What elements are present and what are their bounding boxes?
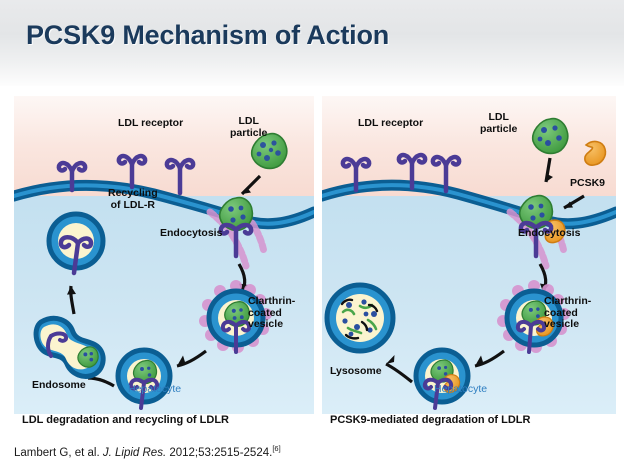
label-ldl-particle-right: LDL particle — [480, 112, 517, 135]
label-endocytosis-left: Endocytosis — [160, 228, 222, 240]
caption-right: PCSK9-mediated degradation of LDLR — [330, 414, 530, 426]
arrow-ldl-to-receptor — [242, 176, 260, 194]
citation: Lambert G, et al. J. Lipid Res. 2012;53:… — [14, 444, 281, 459]
label-clathrin-vesicle-left: Clarthrin- coated vesicle — [248, 296, 295, 331]
diagram-left — [14, 96, 314, 414]
ldl-particle-icon — [533, 119, 568, 154]
label-clathrin-vesicle-right: Clarthrin- coated vesicle — [544, 296, 591, 331]
label-lysosome: Lysosome — [330, 366, 382, 378]
lysosome-icon — [327, 285, 393, 351]
bound-ldl-receptor-complex — [220, 198, 253, 256]
label-ldl-receptor-left: LDL receptor — [118, 118, 183, 130]
arrow-to-lysosome — [386, 355, 412, 382]
pcsk9-icon — [585, 142, 606, 166]
label-endocytosis-right: Endocytosis — [518, 228, 580, 240]
arrow-pcsk9 — [564, 196, 584, 208]
arrow-ldl-to-receptor-right — [546, 158, 553, 182]
page-title: PCSK9 Mechanism of Action — [26, 20, 389, 51]
panel-ldl-recycling: LDL receptor LDL particle Recycling of L… — [14, 96, 314, 414]
citation-ref: [6] — [272, 444, 280, 453]
label-pcsk9: PCSK9 — [570, 178, 605, 190]
citation-authors: Lambert G, et al. — [14, 447, 100, 459]
slide-header: PCSK9 Mechanism of Action — [0, 0, 624, 87]
caption-left: LDL degradation and recycling of LDLR — [22, 414, 229, 426]
label-ldl-particle-left: LDL particle — [230, 116, 267, 139]
label-ldl-receptor-right: LDL receptor — [358, 118, 423, 130]
label-hepatocyte-left: Hepatocyte — [128, 384, 181, 396]
arrow-vesicle-to-lysosome-path — [475, 351, 504, 366]
arrow-vesicle-to-sorting-left — [177, 351, 206, 366]
label-endosome: Endosome — [32, 380, 86, 392]
figure-area: LDL receptor LDL particle Recycling of L… — [0, 86, 624, 408]
endosome-vesicle-right — [416, 350, 468, 408]
label-recycling: Recycling of LDL-R — [108, 188, 158, 211]
sorting-vesicle-left — [118, 350, 170, 408]
endosome-icon — [36, 318, 103, 376]
label-hepatocyte-right: Hepatocyte — [434, 384, 487, 396]
panel-pcsk9-degradation: LDL receptor LDL particle PCSK9 Endocyto… — [322, 96, 616, 414]
recycling-vesicle — [49, 214, 103, 273]
citation-journal: J. Lipid Res. — [103, 447, 166, 459]
citation-details: 2012;53:2515-2524. — [169, 447, 272, 459]
arrow-recycling — [67, 286, 76, 314]
slide: PCSK9 Mechanism of Action — [0, 0, 624, 468]
